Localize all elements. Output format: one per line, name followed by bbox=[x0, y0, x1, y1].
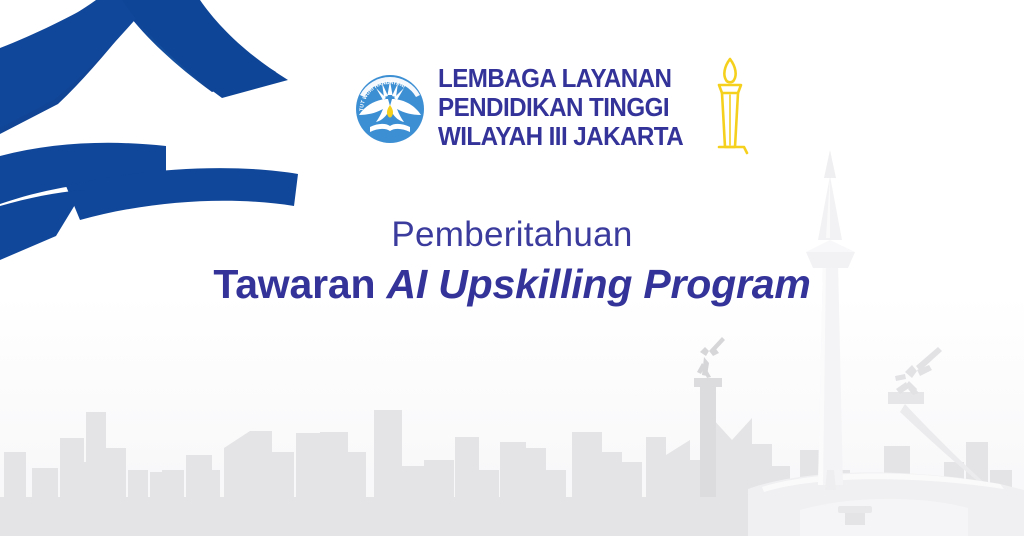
title-emphasis-part: AI Upskilling Program bbox=[386, 261, 810, 307]
headline-block: Pemberitahuan Tawaran AI Upskilling Prog… bbox=[0, 215, 1024, 308]
logo-line-3: WILAYAH III JAKARTA bbox=[438, 122, 683, 151]
page-title: Tawaran AI Upskilling Program bbox=[0, 261, 1024, 308]
logo-line-2: PENDIDIKAN TINGGI bbox=[438, 93, 683, 122]
logo-line-1: LEMBAGA LAYANAN bbox=[438, 64, 683, 93]
logo-text-group: LEMBAGA LAYANAN PENDIDIKAN TINGGI WILAYA… bbox=[438, 64, 702, 151]
banner-canvas: TUT WURI HANDAYANI LEMBAGA LAYANAN PENDI… bbox=[0, 0, 1024, 536]
monas-tower-mark bbox=[706, 55, 754, 159]
title-bold-part: Tawaran bbox=[213, 261, 386, 307]
tut-wuri-handayani-emblem: TUT WURI HANDAYANI bbox=[352, 65, 428, 149]
eyebrow-text: Pemberitahuan bbox=[0, 215, 1024, 255]
logo-lockup: TUT WURI HANDAYANI LEMBAGA LAYANAN PENDI… bbox=[352, 52, 682, 162]
